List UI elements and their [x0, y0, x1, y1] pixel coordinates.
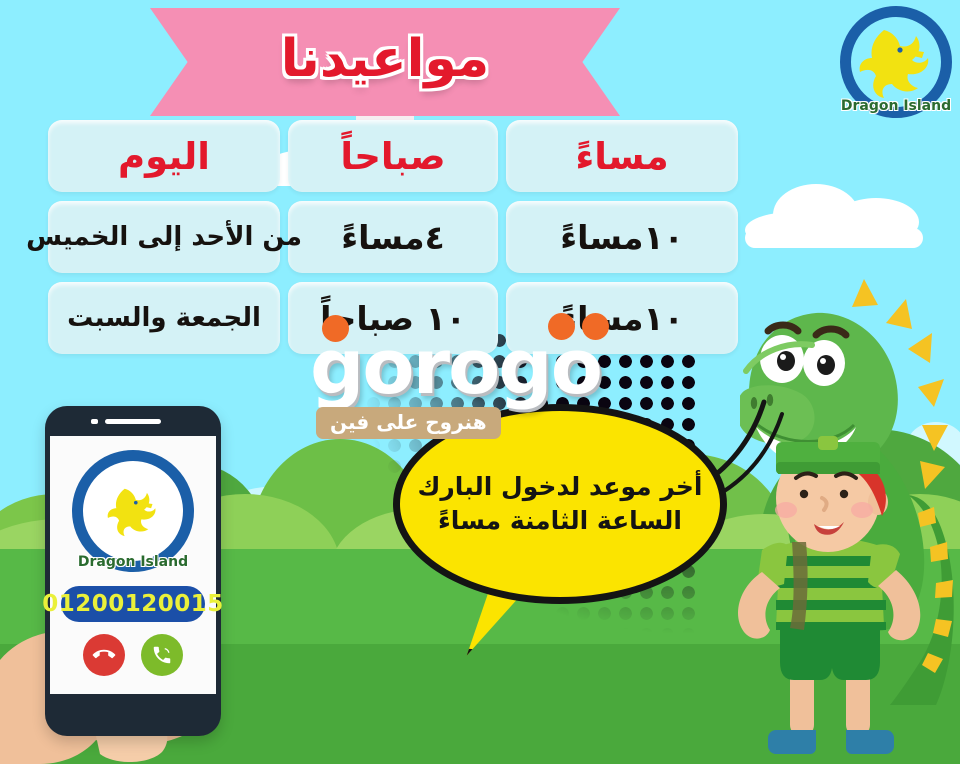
poster-canvas: Dragon Island مواعيدنا مساءً صباحاً اليو… [0, 0, 960, 764]
table-header-row: مساءً صباحاً اليوم [38, 120, 738, 192]
brand-name: Dragon Island [840, 98, 952, 114]
table-row: ١٠مساءً ٤مساءً من الأحد إلى الخميس [38, 201, 738, 273]
value-day: الجمعة والسبت [67, 303, 261, 333]
header-cell-evening: مساءً [506, 120, 738, 192]
dragon-head-icon [94, 472, 172, 550]
dragon-head-icon [860, 30, 929, 98]
notice-text: أخر موعد لدخول البارك الساعة الثامنة مسا… [402, 470, 719, 538]
brand-logo: Dragon Island [840, 6, 952, 118]
cell-day: الجمعة والسبت [48, 282, 280, 354]
phone-mockup: Dragon Island 01200120015 [45, 406, 221, 736]
banner: مواعيدنا [150, 8, 620, 116]
schedule-table: مساءً صباحاً اليوم ١٠مساءً ٤مساءً من الأ… [38, 120, 738, 363]
caller-name: Dragon Island [72, 554, 194, 570]
boy-mascot [718, 436, 948, 764]
phone-screen: Dragon Island 01200120015 [50, 436, 216, 694]
table-row: ١٠مساءً ١٠ صباحاً الجمعة والسبت [38, 282, 738, 354]
phone-answer-icon[interactable] [141, 634, 183, 676]
cell-morning: ٤مساءً [288, 201, 498, 273]
header-label-day: اليوم [118, 135, 210, 178]
header-label-morning: صباحاً [340, 135, 445, 178]
value-morning: ١٠ صباحاً [320, 299, 466, 338]
phone-number: 01200120015 [61, 586, 205, 622]
cell-morning: ١٠ صباحاً [288, 282, 498, 354]
value-day: من الأحد إلى الخميس [26, 222, 302, 252]
notice-bubble: أخر موعد لدخول البارك الساعة الثامنة مسا… [393, 404, 727, 604]
phone-decline-icon[interactable] [83, 634, 125, 676]
call-actions [50, 634, 216, 676]
notice-line-2: الساعة الثامنة مساءً [418, 504, 703, 538]
cell-evening: ١٠مساءً [506, 282, 738, 354]
header-cell-morning: صباحاً [288, 120, 498, 192]
cell-evening: ١٠مساءً [506, 201, 738, 273]
cell-day: من الأحد إلى الخميس [48, 201, 280, 273]
caller-avatar: Dragon Island [72, 450, 194, 572]
value-evening: ١٠مساءً [560, 299, 684, 338]
value-morning: ٤مساءً [341, 218, 444, 257]
page-title: مواعيدنا [150, 8, 620, 116]
header-cell-day: اليوم [48, 120, 280, 192]
notice-line-1: أخر موعد لدخول البارك [418, 470, 703, 504]
phone-speaker [105, 419, 161, 424]
value-evening: ١٠مساءً [560, 218, 684, 257]
header-label-evening: مساءً [575, 135, 668, 178]
